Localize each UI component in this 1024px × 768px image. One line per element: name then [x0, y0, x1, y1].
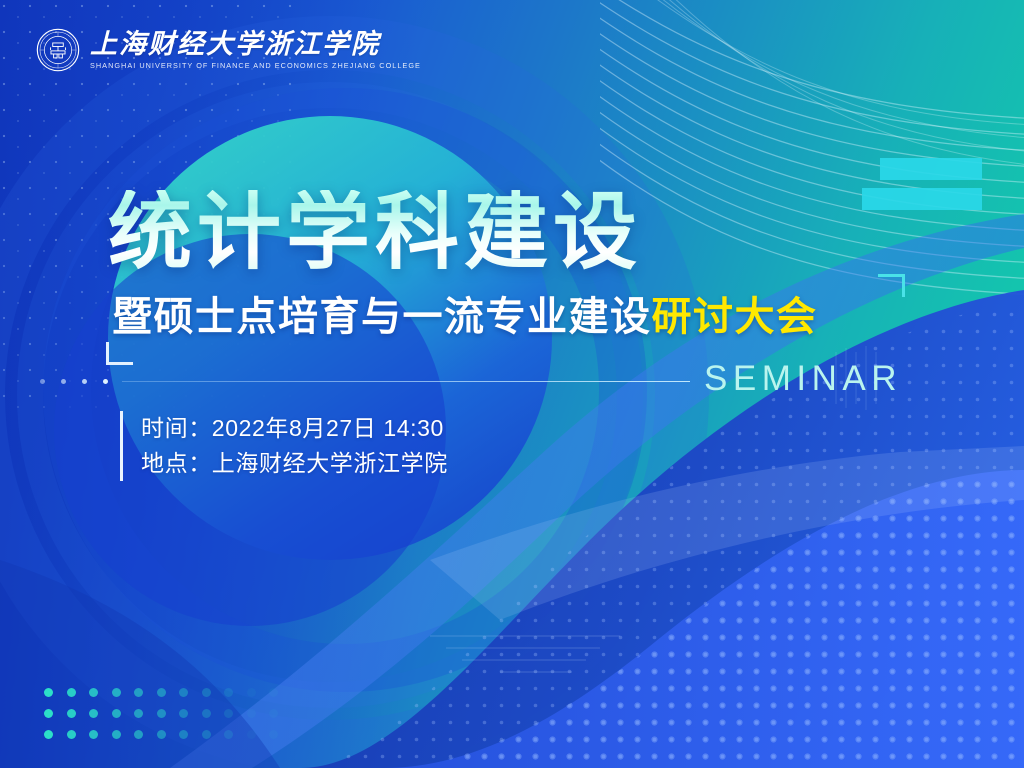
dot-grid-dot: [224, 730, 233, 739]
dot-grid-row: [44, 730, 278, 739]
dot-grid-dot: [269, 730, 278, 739]
dot-grid-decoration: [44, 688, 278, 751]
university-logo: 上海财经大学浙江学院 SHANGHAI UNIVERSITY OF FINANC…: [36, 28, 421, 72]
dot-grid-dot: [247, 709, 256, 718]
dot-grid-dot: [44, 730, 53, 739]
corner-bracket-top-right-icon: [878, 274, 905, 297]
dot-grid-dot: [134, 730, 143, 739]
event-place: 地点：上海财经大学浙江学院: [141, 446, 448, 481]
small-dot: [103, 379, 108, 384]
subtitle-plain: 暨硕士点培育与一流专业建设: [112, 295, 652, 339]
seminar-label: SEMINAR: [704, 361, 902, 396]
dot-grid-dot: [179, 709, 188, 718]
dot-grid-dot: [112, 730, 121, 739]
dot-grid-dot: [67, 688, 76, 697]
dot-grid-dot: [269, 688, 278, 697]
dot-grid-dot: [67, 730, 76, 739]
dot-grid-dot: [89, 709, 98, 718]
dot-grid-dot: [247, 730, 256, 739]
page-subtitle: 暨硕士点培育与一流专业建设研讨大会: [112, 297, 818, 337]
seminar-row: SEMINAR: [122, 355, 902, 401]
dot-grid-dot: [89, 730, 98, 739]
dot-grid-dot: [157, 730, 166, 739]
dot-grid-dot: [269, 709, 278, 718]
dot-grid-dot: [157, 709, 166, 718]
small-dot: [82, 379, 87, 384]
dot-grid-dot: [202, 688, 211, 697]
dot-grid-dot: [44, 709, 53, 718]
event-details: 时间：2022年8月27日 14:30 地点：上海财经大学浙江学院: [120, 411, 448, 481]
dot-grid-dot: [89, 688, 98, 697]
dot-grid-dot: [112, 709, 121, 718]
dot-grid-dot: [67, 709, 76, 718]
page-title: 统计学科建设: [108, 190, 642, 274]
small-dot: [61, 379, 66, 384]
dot-grid-dot: [247, 688, 256, 697]
dot-grid-dot: [134, 709, 143, 718]
dot-grid-row: [44, 709, 278, 718]
dot-grid-dot: [112, 688, 121, 697]
dot-grid-dot: [44, 688, 53, 697]
event-time: 时间：2022年8月27日 14:30: [141, 411, 448, 446]
logo-name-en: SHANGHAI UNIVERSITY OF FINANCE AND ECONO…: [90, 62, 421, 70]
dot-grid-dot: [179, 688, 188, 697]
dot-grid-dot: [202, 730, 211, 739]
seminar-divider: [122, 381, 690, 382]
subtitle-accent: 研讨大会: [652, 295, 818, 339]
dot-grid-dot: [224, 688, 233, 697]
logo-name-cn: 上海财经大学浙江学院: [90, 30, 421, 58]
dot-grid-dot: [157, 688, 166, 697]
accent-bar-bottom: [862, 188, 982, 210]
dot-grid-dot: [134, 688, 143, 697]
dot-grid-dot: [179, 730, 188, 739]
university-crest-icon: [36, 28, 80, 72]
small-dot-row: [40, 379, 108, 384]
accent-bar-top: [880, 158, 982, 180]
dot-grid-dot: [202, 709, 211, 718]
dot-grid-row: [44, 688, 278, 697]
poster-canvas: 上海财经大学浙江学院 SHANGHAI UNIVERSITY OF FINANC…: [0, 0, 1024, 768]
small-dot: [40, 379, 45, 384]
dot-grid-dot: [224, 709, 233, 718]
